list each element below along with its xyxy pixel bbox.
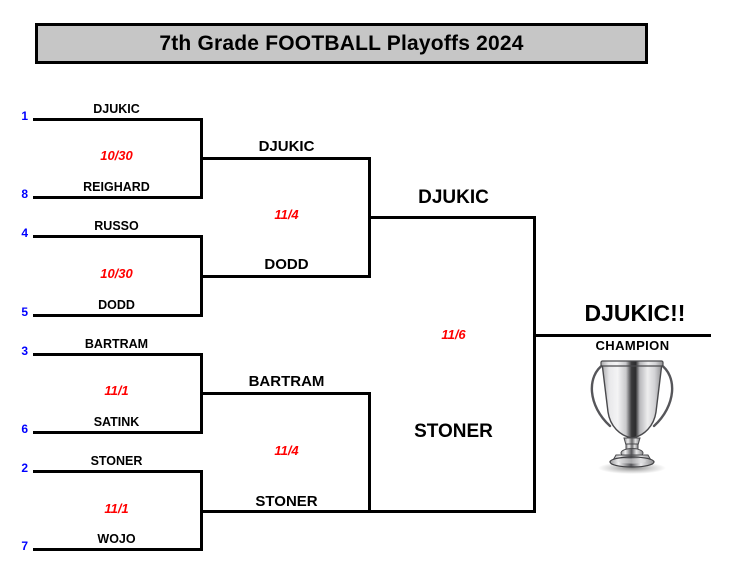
seed-number-1: 1 [8, 110, 28, 122]
team-label-satink-r1: SATINK [33, 416, 200, 429]
bracket-line [33, 196, 203, 199]
page-title-banner: 7th Grade FOOTBALL Playoffs 2024 [35, 23, 648, 64]
team-label-djukic-r3: DJUKIC [371, 188, 536, 207]
trophy-cup-icon [576, 352, 688, 477]
team-label-reighard-r1: REIGHARD [33, 181, 200, 194]
match-date-r1-m2: 10/30 [33, 267, 200, 280]
team-label-dodd-r2: DODD [203, 257, 370, 272]
team-label-russo-r1: RUSSO [33, 220, 200, 233]
match-date-r1-m4: 11/1 [33, 502, 200, 515]
team-label-bartram-r1: BARTRAM [33, 338, 200, 351]
team-label-bartram-r2: BARTRAM [203, 374, 370, 389]
seed-number-4: 4 [8, 227, 28, 239]
champion-name: DJUKIC!! [545, 302, 725, 325]
champion-line [533, 334, 711, 337]
bracket-connector-final [533, 216, 536, 513]
bracket-line [33, 470, 203, 473]
match-date-r1-m3: 11/1 [33, 384, 200, 397]
match-date-r1-m1: 10/30 [33, 149, 200, 162]
match-date-r2-m2: 11/4 [203, 444, 370, 457]
team-label-wojo-r1: WOJO [33, 533, 200, 546]
seed-number-2: 2 [8, 462, 28, 474]
seed-number-5: 5 [8, 306, 28, 318]
bracket-advance-line [200, 510, 370, 513]
bracket-connector [368, 392, 371, 513]
match-date-r3-final: 11/6 [371, 328, 536, 341]
bracket-advance-line [200, 392, 370, 395]
team-label-stoner-r3: STONER [371, 422, 536, 441]
team-label-djukic-r1: DJUKIC [33, 103, 200, 116]
team-label-stoner-r2: STONER [203, 494, 370, 509]
match-date-r2-m1: 11/4 [203, 208, 370, 221]
bracket-line [33, 314, 203, 317]
bracket-advance-line [200, 275, 370, 278]
team-label-dodd-r1: DODD [33, 299, 200, 312]
seed-number-8: 8 [8, 188, 28, 200]
bracket-line [33, 431, 203, 434]
team-label-djukic-r2: DJUKIC [203, 139, 370, 154]
champion-subtitle: CHAMPION [545, 339, 720, 352]
bracket-advance-line [368, 216, 536, 219]
playoff-bracket: 7th Grade FOOTBALL Playoffs 2024 1 DJUKI… [0, 0, 750, 584]
page-title: 7th Grade FOOTBALL Playoffs 2024 [159, 32, 523, 56]
team-label-stoner-r1: STONER [33, 455, 200, 468]
seed-number-6: 6 [8, 423, 28, 435]
bracket-line [33, 235, 203, 238]
bracket-line [33, 118, 203, 121]
seed-number-3: 3 [8, 345, 28, 357]
bracket-advance-line [200, 157, 370, 160]
bracket-line [33, 353, 203, 356]
bracket-advance-line [368, 510, 536, 513]
bracket-line [33, 548, 203, 551]
seed-number-7: 7 [8, 540, 28, 552]
